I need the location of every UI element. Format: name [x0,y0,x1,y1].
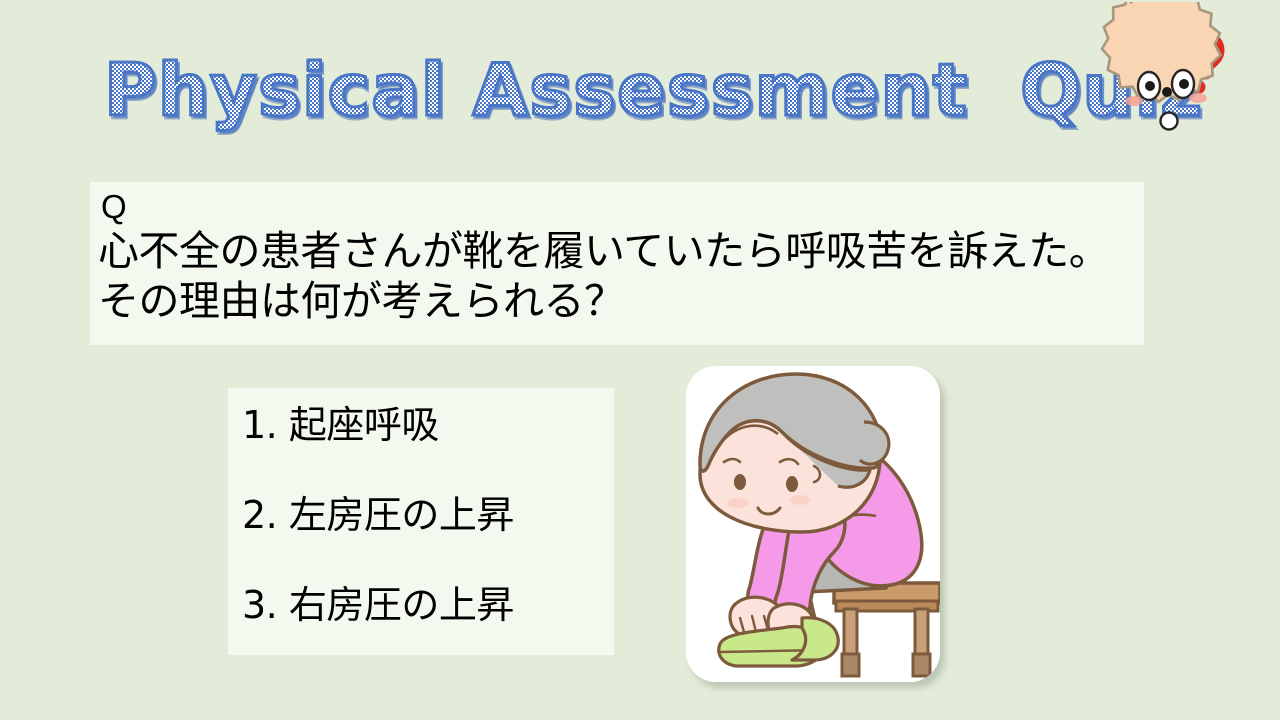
options-box: 1. 起座呼吸 2. 左房圧の上昇 3. 右房圧の上昇 [228,388,614,655]
question-line-2: その理由は何が考えられる？ [98,276,1144,326]
option-item-2[interactable]: 2. 左房圧の上昇 [242,492,614,538]
question-line-1: 心不全の患者さんが靴を履いていたら呼吸苦を訴えた。 [98,226,1144,276]
question-label: Q [101,188,1144,226]
slide-root: Physical Assessment Quiz Physical Assess… [0,0,1280,720]
page-title: Physical Assessment Quiz [104,48,1203,132]
option-item-3[interactable]: 3. 右房圧の上昇 [242,582,614,628]
head-shape [700,374,889,532]
gear-face-mascot [1068,2,1274,158]
question-box: Q 心不全の患者さんが靴を履いていたら呼吸苦を訴えた。 その理由は何が考えられる… [90,182,1144,345]
elderly-woman-putting-on-shoes-illustration [686,366,940,682]
option-item-1[interactable]: 1. 起座呼吸 [242,402,614,448]
illustration-card [686,366,940,682]
